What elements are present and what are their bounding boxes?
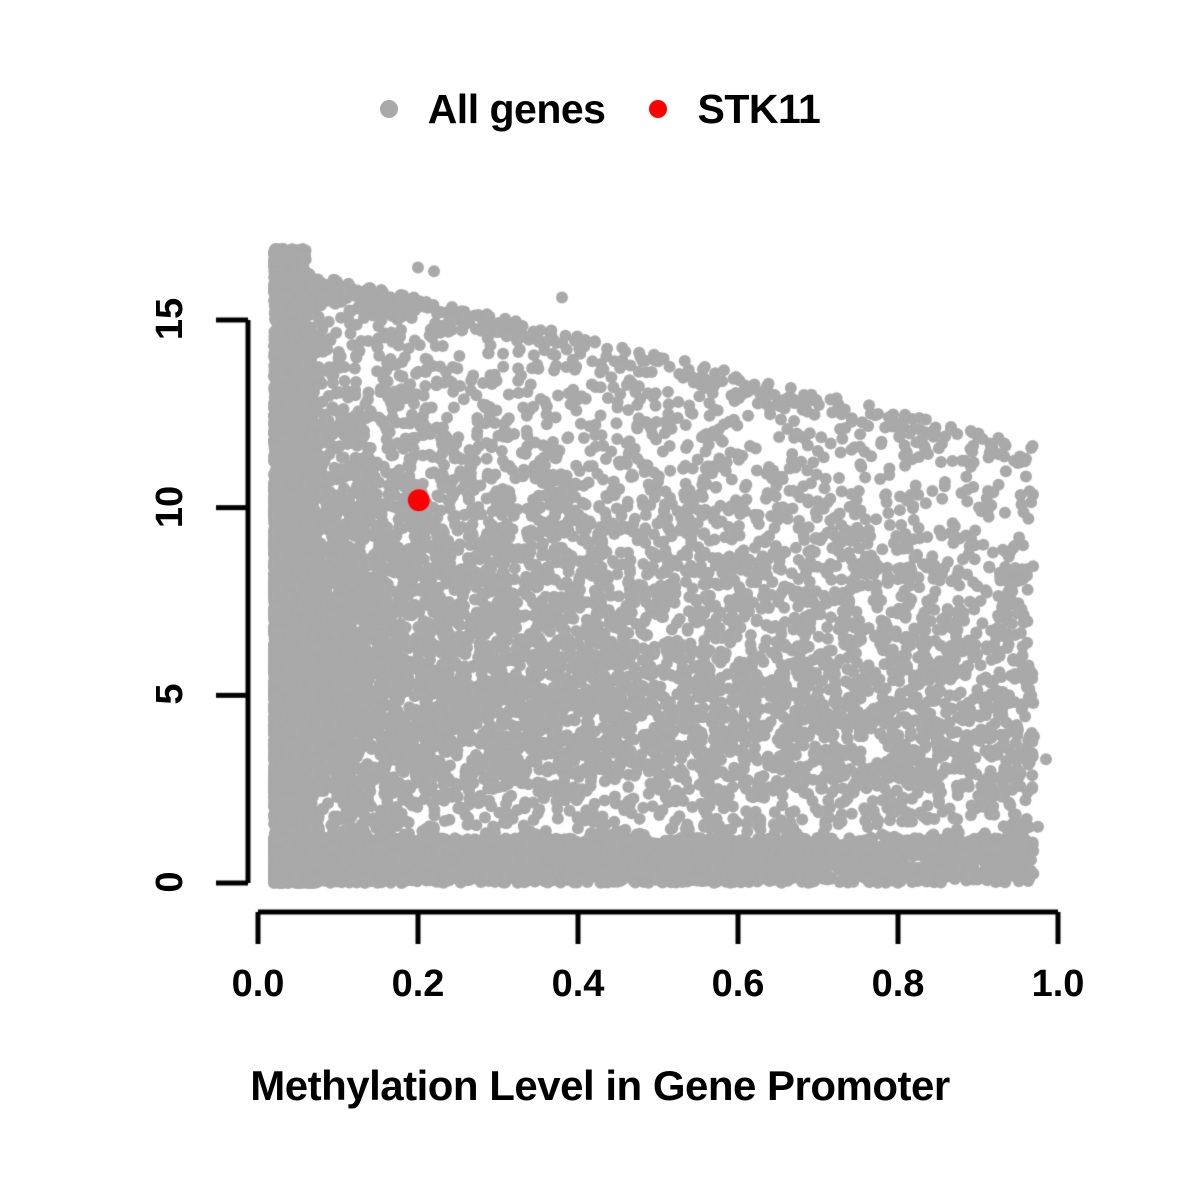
x-tick-label-0: 0.0	[198, 965, 318, 1003]
legend-item-all-genes: All genes	[380, 89, 606, 130]
x-tick-label-5: 1.0	[998, 965, 1118, 1003]
legend-item-stk11: STK11	[649, 89, 820, 130]
legend: All genes STK11	[0, 78, 1200, 140]
y-tick-label-0: 0	[151, 842, 189, 922]
x-tick-label-4: 0.8	[838, 965, 958, 1003]
scatter-plot-figure: All genes STK11 Gene Expression Level (l…	[0, 0, 1200, 1200]
legend-label-stk11: STK11	[697, 89, 820, 130]
y-tick-label-5: 5	[151, 654, 189, 734]
x-tick-label-1: 0.2	[358, 965, 478, 1003]
x-axis-title: Methylation Level in Gene Promoter	[0, 1062, 1200, 1110]
x-tick-label-2: 0.4	[518, 965, 638, 1003]
legend-label-all-genes: All genes	[428, 89, 606, 130]
x-tick-label-3: 0.6	[678, 965, 798, 1003]
red-dot-icon	[649, 100, 667, 118]
scatter-plot-canvas	[0, 0, 1200, 1200]
y-tick-label-15: 15	[151, 279, 189, 359]
grey-dot-icon	[380, 100, 398, 118]
y-tick-label-10: 10	[151, 467, 189, 547]
